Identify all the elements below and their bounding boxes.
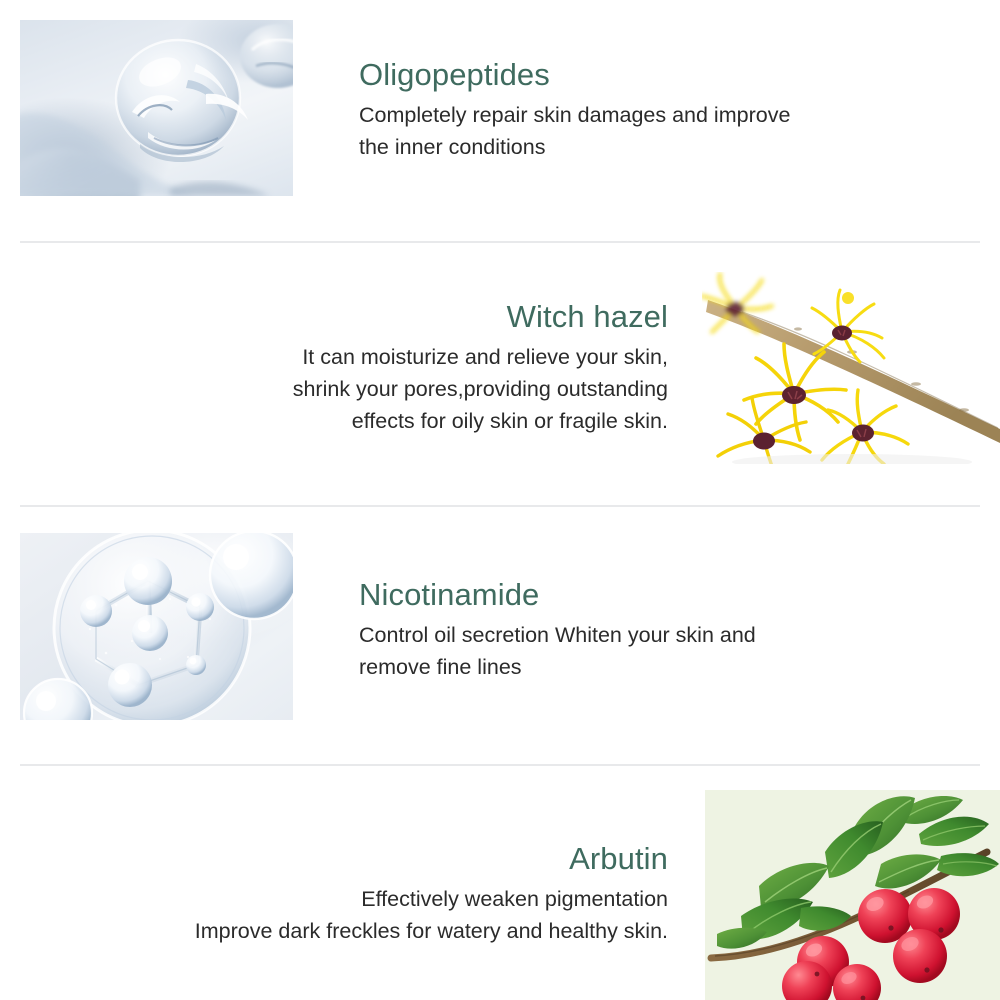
bearberry-photo [705, 790, 1000, 1000]
section-title: Nicotinamide [359, 578, 879, 612]
section-title: Witch hazel [140, 300, 668, 334]
water-droplet-photo [20, 20, 293, 196]
molecule-bubble-photo [20, 533, 293, 720]
section-divider [20, 241, 980, 243]
witch-hazel-photo [702, 272, 1000, 464]
section-text-arbutin: Arbutin Effectively weaken pigmentation … [60, 842, 668, 947]
ingredient-infographic: Oligopeptides Completely repair skin dam… [0, 0, 1000, 1000]
section-divider [20, 505, 980, 507]
section-text-witch-hazel: Witch hazel It can moisturize and reliev… [140, 300, 668, 437]
section-text-oligopeptides: Oligopeptides Completely repair skin dam… [359, 58, 899, 163]
section-description: It can moisturize and relieve your skin,… [140, 341, 668, 437]
section-text-nicotinamide: Nicotinamide Control oil secretion White… [359, 578, 879, 683]
section-title: Arbutin [60, 842, 668, 876]
section-divider [20, 764, 980, 766]
section-title: Oligopeptides [359, 58, 899, 92]
section-description: Effectively weaken pigmentation Improve … [60, 883, 668, 947]
section-description: Control oil secretion Whiten your skin a… [359, 619, 879, 683]
section-description: Completely repair skin damages and impro… [359, 99, 899, 163]
